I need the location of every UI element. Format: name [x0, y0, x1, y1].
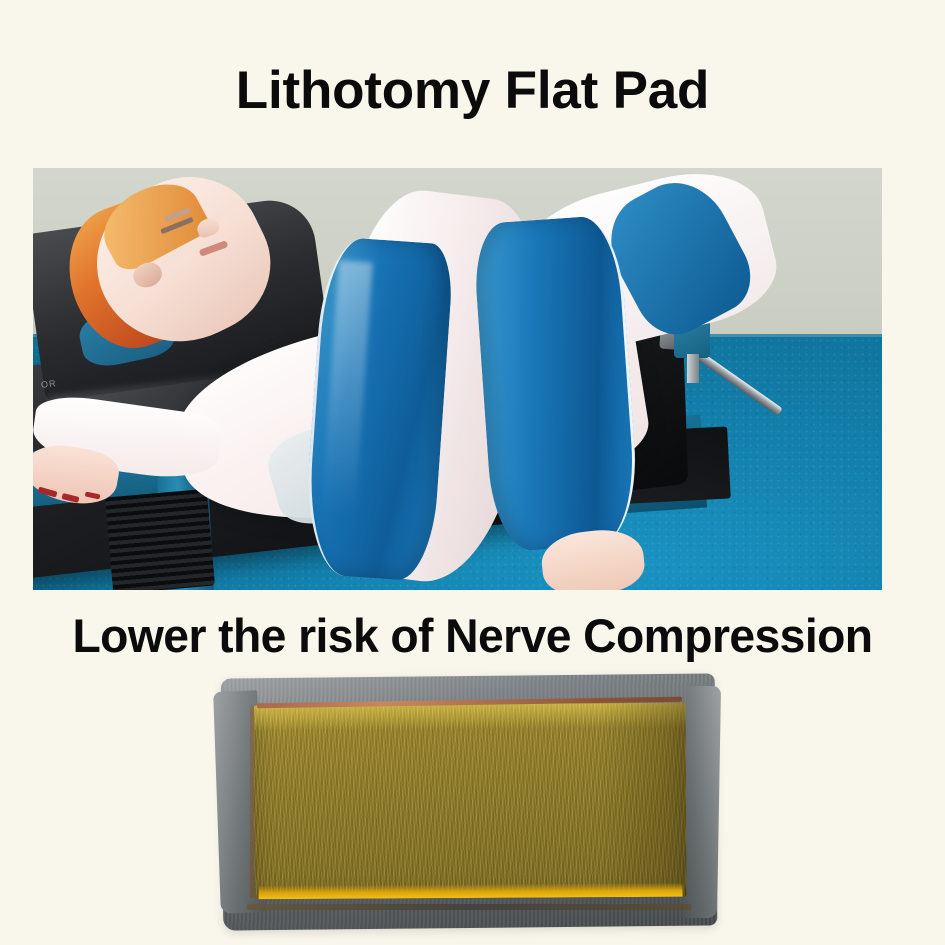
- lithotomy-leg-pad-right: [472, 214, 642, 553]
- gel-bottom-highlight: [259, 883, 683, 899]
- poster-canvas: Lithotomy Flat Pad OR: [0, 0, 945, 945]
- gel-right-shadow: [599, 702, 687, 897]
- tagline: Lower the risk of Nerve Compression: [7, 612, 938, 659]
- clinical-photo: OR: [33, 168, 882, 590]
- pad-gel-surface: [254, 702, 687, 899]
- page-title: Lithotomy Flat Pad: [0, 64, 945, 117]
- pad-right-flap: [682, 686, 721, 918]
- pad-bottom-seam: [247, 904, 692, 910]
- table-column-bellows: [105, 489, 215, 590]
- table-brand-label: OR: [41, 378, 58, 390]
- pad-left-seam: [250, 706, 254, 898]
- product-photo-gel-pad: [222, 676, 716, 928]
